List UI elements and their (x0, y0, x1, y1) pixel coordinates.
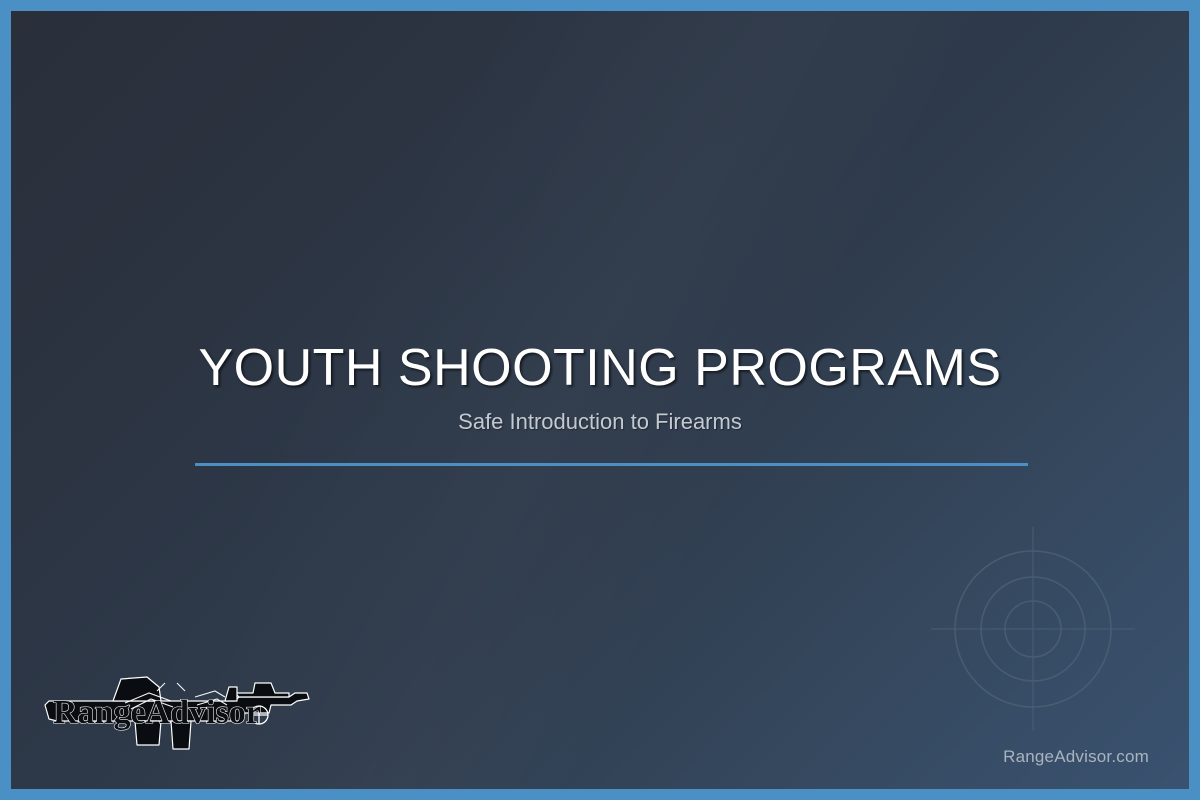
footer-url: RangeAdvisor.com (1003, 747, 1149, 767)
logo-wordmark: RangeAdvisor (53, 694, 261, 731)
accent-divider (195, 463, 1028, 466)
rangeadvisor-logo: RangeAdvisor (39, 663, 315, 757)
page-title: YOUTH SHOOTING PROGRAMS (11, 341, 1189, 396)
title-block: YOUTH SHOOTING PROGRAMS Safe Introductio… (11, 341, 1189, 435)
page-subtitle: Safe Introduction to Firearms (11, 409, 1189, 435)
title-slide: YOUTH SHOOTING PROGRAMS Safe Introductio… (0, 0, 1200, 800)
